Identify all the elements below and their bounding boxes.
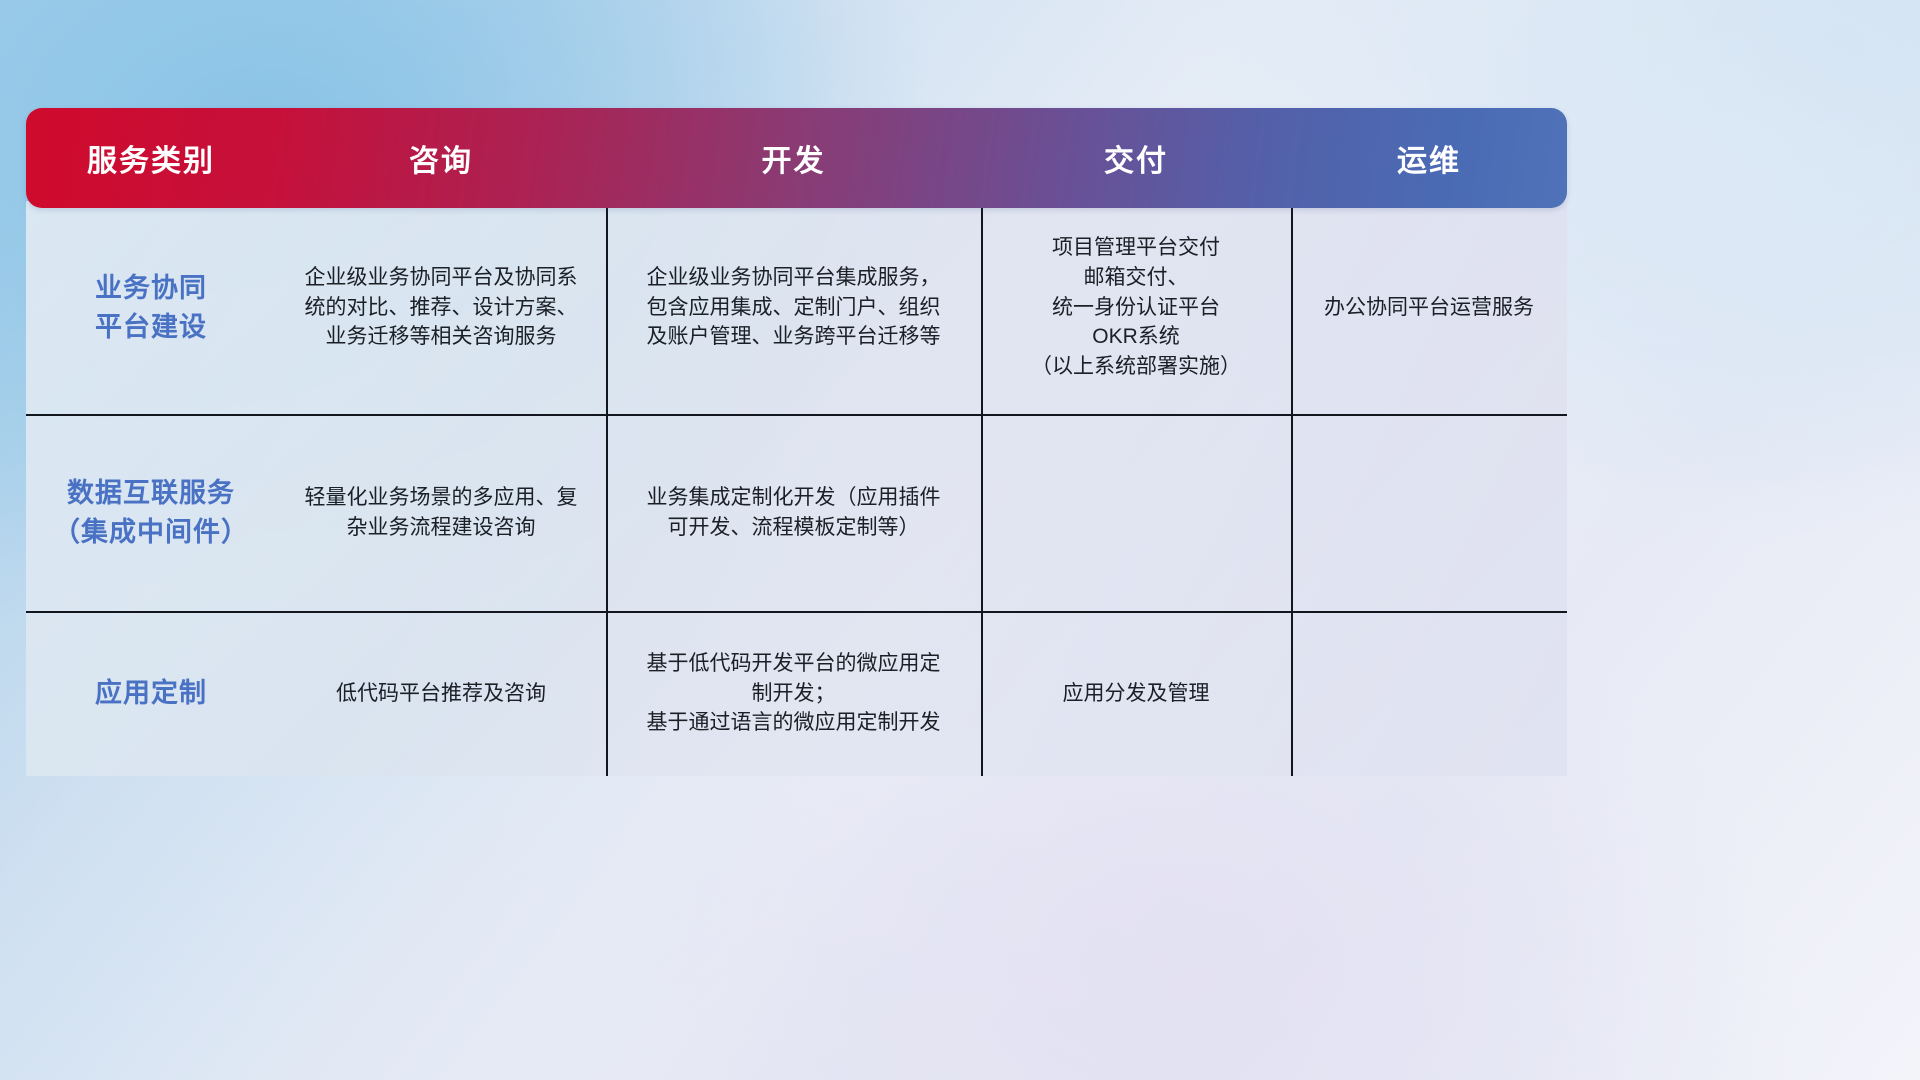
column-divider-2 <box>981 201 983 776</box>
cell-development-row1: 企业级业务协同平台集成服务， 包含应用集成、定制门户、组织 及账户管理、业务跨平… <box>606 257 981 358</box>
cell-development-row3: 基于低代码开发平台的微应用定 制开发； 基于通过语言的微应用定制开发 <box>606 643 981 744</box>
column-header-service-category: 服务类别 <box>26 136 276 180</box>
table-row: 数据互联服务 （集成中间件） 轻量化业务场景的多应用、复 杂业务流程建设咨询 业… <box>26 414 1567 611</box>
column-header-operations: 运维 <box>1291 136 1567 180</box>
cell-operations-row2 <box>1291 507 1567 519</box>
service-matrix-table: 服务类别 咨询 开发 交付 运维 业务协同 平台建设 企业级业务协同平台及协同系… <box>26 108 1567 776</box>
cell-operations-row3 <box>1291 688 1567 700</box>
table-body: 业务协同 平台建设 企业级业务协同平台及协同系 统的对比、推荐、设计方案、 业务… <box>26 201 1567 776</box>
column-header-consulting: 咨询 <box>276 136 606 180</box>
slide-canvas: 服务类别 咨询 开发 交付 运维 业务协同 平台建设 企业级业务协同平台及协同系… <box>0 0 1920 1080</box>
row-divider-1 <box>26 414 1567 416</box>
cell-delivery-row1: 项目管理平台交付 邮箱交付、 统一身份认证平台 OKR系统 （以上系统部署实施） <box>981 227 1291 388</box>
cell-consulting-row2: 轻量化业务场景的多应用、复 杂业务流程建设咨询 <box>276 477 606 549</box>
row-divider-2 <box>26 611 1567 613</box>
column-divider-3 <box>1291 201 1293 776</box>
row-label-application-customization: 应用定制 <box>26 668 276 718</box>
row-label-business-collaboration-platform: 业务协同 平台建设 <box>26 263 276 352</box>
table-row: 业务协同 平台建设 企业级业务协同平台及协同系 统的对比、推荐、设计方案、 业务… <box>26 201 1567 414</box>
cell-consulting-row3: 低代码平台推荐及咨询 <box>276 673 606 715</box>
column-divider-1 <box>606 201 608 776</box>
table-header-row: 服务类别 咨询 开发 交付 运维 <box>26 108 1567 208</box>
cell-delivery-row2 <box>981 507 1291 519</box>
cell-consulting-row1: 企业级业务协同平台及协同系 统的对比、推荐、设计方案、 业务迁移等相关咨询服务 <box>276 257 606 358</box>
row-label-data-interconnect-service: 数据互联服务 （集成中间件） <box>26 468 276 557</box>
cell-delivery-row3: 应用分发及管理 <box>981 673 1291 715</box>
cell-operations-row1: 办公协同平台运营服务 <box>1291 287 1567 329</box>
table-row: 应用定制 低代码平台推荐及咨询 基于低代码开发平台的微应用定 制开发； 基于通过… <box>26 611 1567 776</box>
cell-development-row2: 业务集成定制化开发（应用插件 可开发、流程模板定制等） <box>606 477 981 549</box>
column-header-delivery: 交付 <box>981 136 1291 180</box>
column-header-development: 开发 <box>606 136 981 180</box>
